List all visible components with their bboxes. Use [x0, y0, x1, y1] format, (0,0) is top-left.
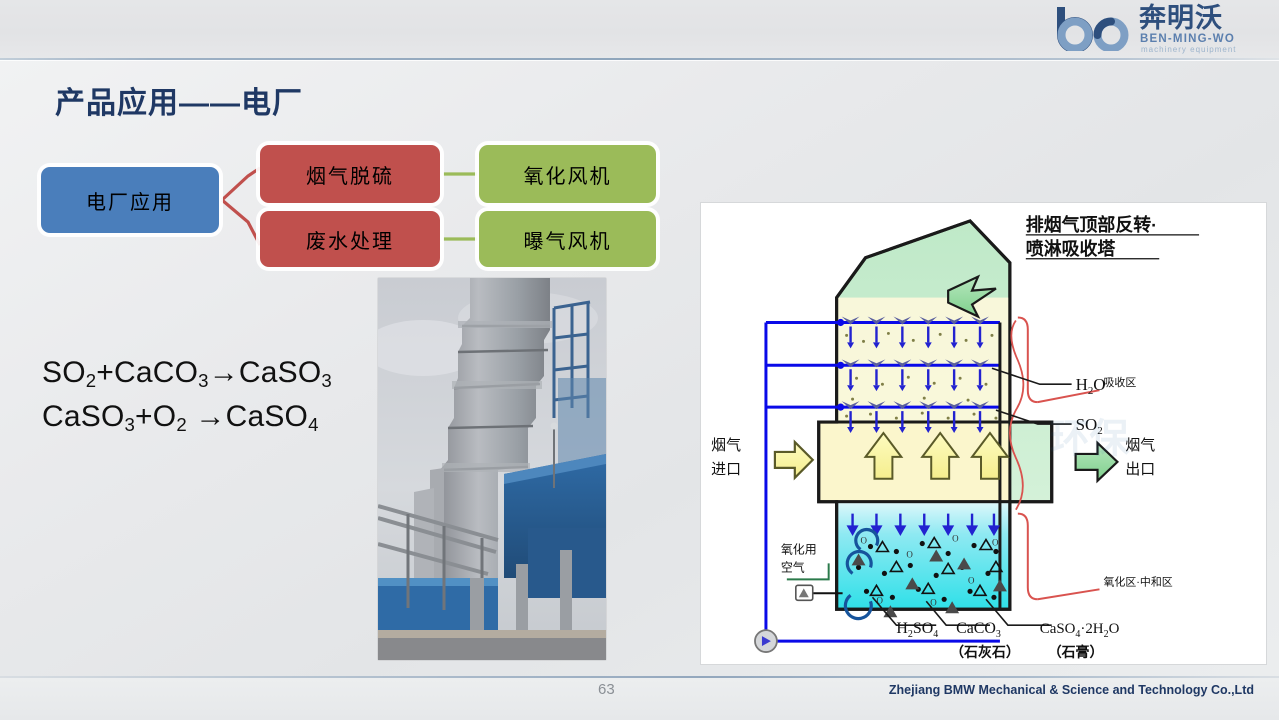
company-logo: 奔明沃 BEN-MING-WO machinery equipment: [1051, 3, 1263, 55]
flow-node-fgd-label: 烟气脱硫: [306, 160, 394, 189]
chemical-formula: SO2+CaCO3→CaSO3 CaSO3+O2 →CaSO4: [42, 352, 332, 440]
label-gypsum: （石膏）: [1048, 644, 1104, 660]
flow-node-fgd[interactable]: 烟气脱硫: [260, 145, 440, 203]
page-number: 63: [598, 681, 615, 698]
plant-photo: [378, 278, 606, 660]
formula2-caso4-sub: 4: [308, 414, 319, 435]
flow-node-aeration-blower[interactable]: 曝气风机: [479, 211, 656, 267]
label-absorption-zone: 吸收区: [1103, 375, 1136, 389]
formula-caso3-sub: 3: [321, 370, 332, 391]
svg-text:O: O: [930, 597, 937, 607]
plant-photo-image: [378, 278, 606, 660]
flow-node-aeration-blower-label: 曝气风机: [524, 225, 612, 254]
label-outlet-line2: 出口: [1125, 461, 1155, 478]
label-inlet-line2: 进口: [711, 461, 741, 478]
label-oxidation-air-line2: 空气: [781, 559, 805, 574]
formula2-o2: +O: [135, 400, 176, 433]
formula2-caso4: →CaSO: [187, 400, 308, 433]
formula-so2-sub: 2: [86, 370, 97, 391]
svg-text:O: O: [906, 549, 913, 559]
formula2-o2-sub: 2: [176, 414, 187, 435]
fgd-diagram-image: OOO OOO O: [701, 203, 1266, 664]
label-limestone: （石灰石）: [950, 644, 1020, 660]
formula2-caso3-sub: 3: [125, 414, 136, 435]
logo-english-name: BEN-MING-WO: [1140, 33, 1235, 45]
flow-node-wastewater-label: 废水处理: [306, 225, 394, 254]
company-footer-text: Zhejiang BMW Mechanical & Science and Te…: [889, 683, 1254, 697]
flow-node-wastewater[interactable]: 废水处理: [260, 211, 440, 267]
slide: 奔明沃 BEN-MING-WO machinery equipment 产品应用…: [0, 0, 1279, 720]
formula-line-2: CaSO3+O2 →CaSO4: [42, 396, 332, 440]
flow-node-root-label: 电厂应用: [86, 186, 174, 215]
logo-chinese-name: 奔明沃: [1139, 3, 1223, 33]
label-oxidation-zone: 氧化区·中和区: [1103, 574, 1172, 588]
svg-text:O: O: [992, 538, 999, 548]
logo-tagline: machinery equipment: [1141, 45, 1236, 54]
flow-node-root[interactable]: 电厂应用: [41, 167, 219, 233]
formula-line-1: SO2+CaCO3→CaSO3: [42, 352, 332, 396]
formula-so2: SO: [42, 356, 86, 389]
diagram-title-line1: 排烟气顶部反转·: [1026, 214, 1157, 235]
label-caco3: CaCO3: [956, 620, 1001, 640]
formula2-caso3: CaSO: [42, 400, 125, 433]
diagram-title-line2: 喷淋吸收塔: [1026, 238, 1117, 259]
label-outlet-line1: 烟气: [1125, 437, 1155, 454]
formula-caco3: +CaCO: [96, 356, 198, 389]
label-oxidation-air-line1: 氧化用: [781, 542, 817, 556]
watermark: 环保: [1050, 417, 1131, 461]
svg-text:O: O: [968, 575, 975, 585]
svg-text:O: O: [861, 536, 868, 546]
label-h2so4: H2SO4: [896, 620, 938, 640]
formula-caco3-sub: 3: [198, 370, 209, 391]
label-inlet-line1: 烟气: [711, 437, 741, 454]
svg-text:O: O: [952, 534, 959, 544]
flowchart: 电厂应用 烟气脱硫 废水处理 氧化风机 曝气风机: [0, 0, 700, 290]
fgd-process-diagram: OOO OOO O: [700, 202, 1267, 665]
flow-node-oxidation-blower[interactable]: 氧化风机: [479, 145, 656, 203]
bo-monogram-icon: [1051, 5, 1137, 51]
formula-caso3: →CaSO: [209, 356, 322, 389]
flow-node-oxidation-blower-label: 氧化风机: [524, 160, 612, 189]
